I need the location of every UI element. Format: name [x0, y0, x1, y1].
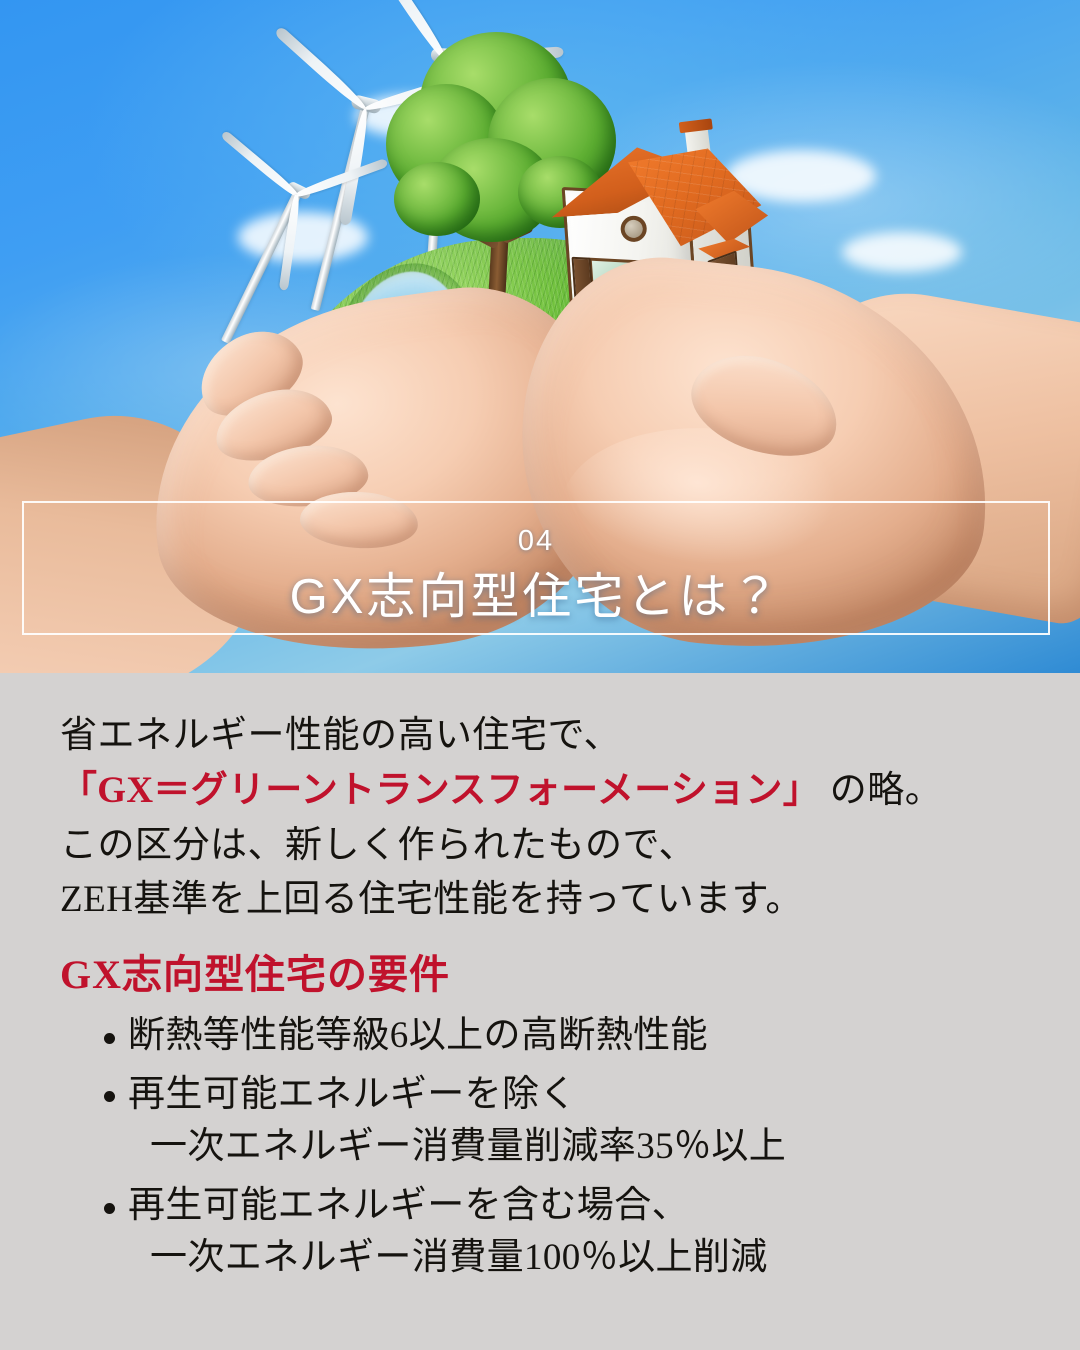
requirement-line-2: 一次エネルギー消費量100％以上削減 [128, 1232, 1036, 1285]
gx-definition-highlight: 「GX＝グリーントランスフォーメーション」 [60, 770, 820, 811]
list-item: 再生可能エネルギーを除く 一次エネルギー消費量削減率35％以上 [60, 1069, 1036, 1174]
paragraph-line-2-tail: の略。 [820, 770, 942, 811]
list-item: 断熱等性能等級6以上の高断熱性能 [60, 1010, 1036, 1063]
list-item: 再生可能エネルギーを含む場合、 一次エネルギー消費量100％以上削減 [60, 1180, 1036, 1285]
content-section: 省エネルギー性能の高い住宅で、 「GX＝グリーントランスフォーメーション」 の略… [0, 673, 1080, 1350]
bullet-icon [104, 1033, 115, 1044]
requirements-heading: GX志向型住宅の要件 [60, 942, 1036, 1000]
solar-panel-icon [470, 292, 738, 482]
intro-paragraph: 省エネルギー性能の高い住宅で、 「GX＝グリーントランスフォーメーション」 の略… [60, 709, 1036, 928]
page-title: GX志向型住宅とは？ [24, 557, 1048, 628]
requirement-line-1: 再生可能エネルギーを除く [128, 1074, 577, 1115]
requirement-line-1: 再生可能エネルギーを含む場合、 [128, 1185, 689, 1226]
paragraph-line-2: 「GX＝グリーントランスフォーメーション」 の略。 [60, 764, 1036, 819]
title-frame: 04 GX志向型住宅とは？ [22, 501, 1050, 635]
requirement-line-1: 断熱等性能等級6以上の高断熱性能 [128, 1015, 708, 1056]
cloud-icon [842, 232, 962, 272]
bullet-icon [104, 1091, 115, 1102]
requirements-list: 断熱等性能等級6以上の高断熱性能 再生可能エネルギーを除く 一次エネルギー消費量… [60, 1010, 1036, 1285]
paragraph-line-1: 省エネルギー性能の高い住宅で、 [60, 709, 1036, 764]
requirement-line-2: 一次エネルギー消費量削減率35％以上 [128, 1121, 1036, 1174]
hero-image: 04 GX志向型住宅とは？ [0, 0, 1080, 673]
paragraph-line-4: ZEH基準を上回る住宅性能を持っています。 [60, 873, 1036, 928]
section-number: 04 [24, 525, 1048, 558]
bullet-icon [104, 1203, 115, 1214]
paragraph-line-3: この区分は、新しく作られたもので、 [60, 819, 1036, 874]
